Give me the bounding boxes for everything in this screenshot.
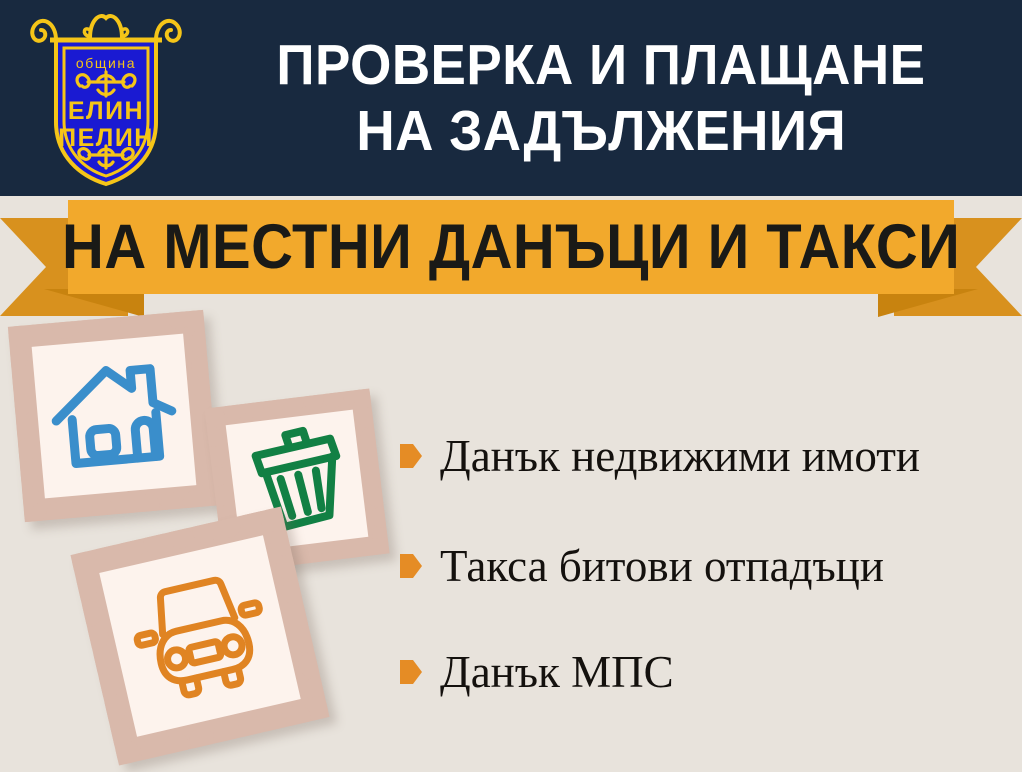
list-item[interactable]: Данък МПС xyxy=(400,642,674,702)
list-item-label: Данък недвижими имоти xyxy=(440,431,920,481)
poster-root: община ЕЛИН ПЕЛИН xyxy=(0,0,1022,772)
house-icon xyxy=(32,334,197,499)
ribbon-label: НА МЕСТНИ ДАНЪЦИ И ТАКСИ xyxy=(62,216,960,279)
coat-of-arms-icon: община ЕЛИН ПЕЛИН xyxy=(20,6,192,192)
logo-word-elin: ЕЛИН xyxy=(68,97,144,125)
page-title: ПРОВЕРКА И ПЛАЩАНЕ НА ЗАДЪЛЖЕНИЯ xyxy=(196,18,1006,178)
stamp-illustration-group xyxy=(0,300,420,772)
list-item[interactable]: Данък недвижими имоти xyxy=(400,426,920,486)
ribbon-body: НА МЕСТНИ ДАНЪЦИ И ТАКСИ xyxy=(68,200,954,294)
header-banner: община ЕЛИН ПЕЛИН xyxy=(0,0,1022,196)
logo-word-obshtina: община xyxy=(76,55,136,71)
subtitle-ribbon: НА МЕСТНИ ДАНЪЦИ И ТАКСИ xyxy=(0,196,1022,314)
list-item[interactable]: Такса битови отпадъци xyxy=(400,536,884,596)
municipality-logo: община ЕЛИН ПЕЛИН xyxy=(20,6,192,192)
title-line-1: ПРОВЕРКА И ПЛАЩАНЕ xyxy=(276,32,925,98)
list-item-label: Такса битови отпадъци xyxy=(440,541,884,591)
stamp-paper xyxy=(32,334,197,499)
arrow-bullet-icon xyxy=(400,660,422,684)
arrow-bullet-icon xyxy=(400,444,422,468)
tax-type-list: Данък недвижими имоти Такса битови отпад… xyxy=(400,420,1022,720)
list-item-label: Данък МПС xyxy=(440,647,674,697)
stamp-real-estate xyxy=(8,310,220,522)
arrow-bullet-icon xyxy=(400,554,422,578)
title-line-2: НА ЗАДЪЛЖЕНИЯ xyxy=(356,98,846,164)
